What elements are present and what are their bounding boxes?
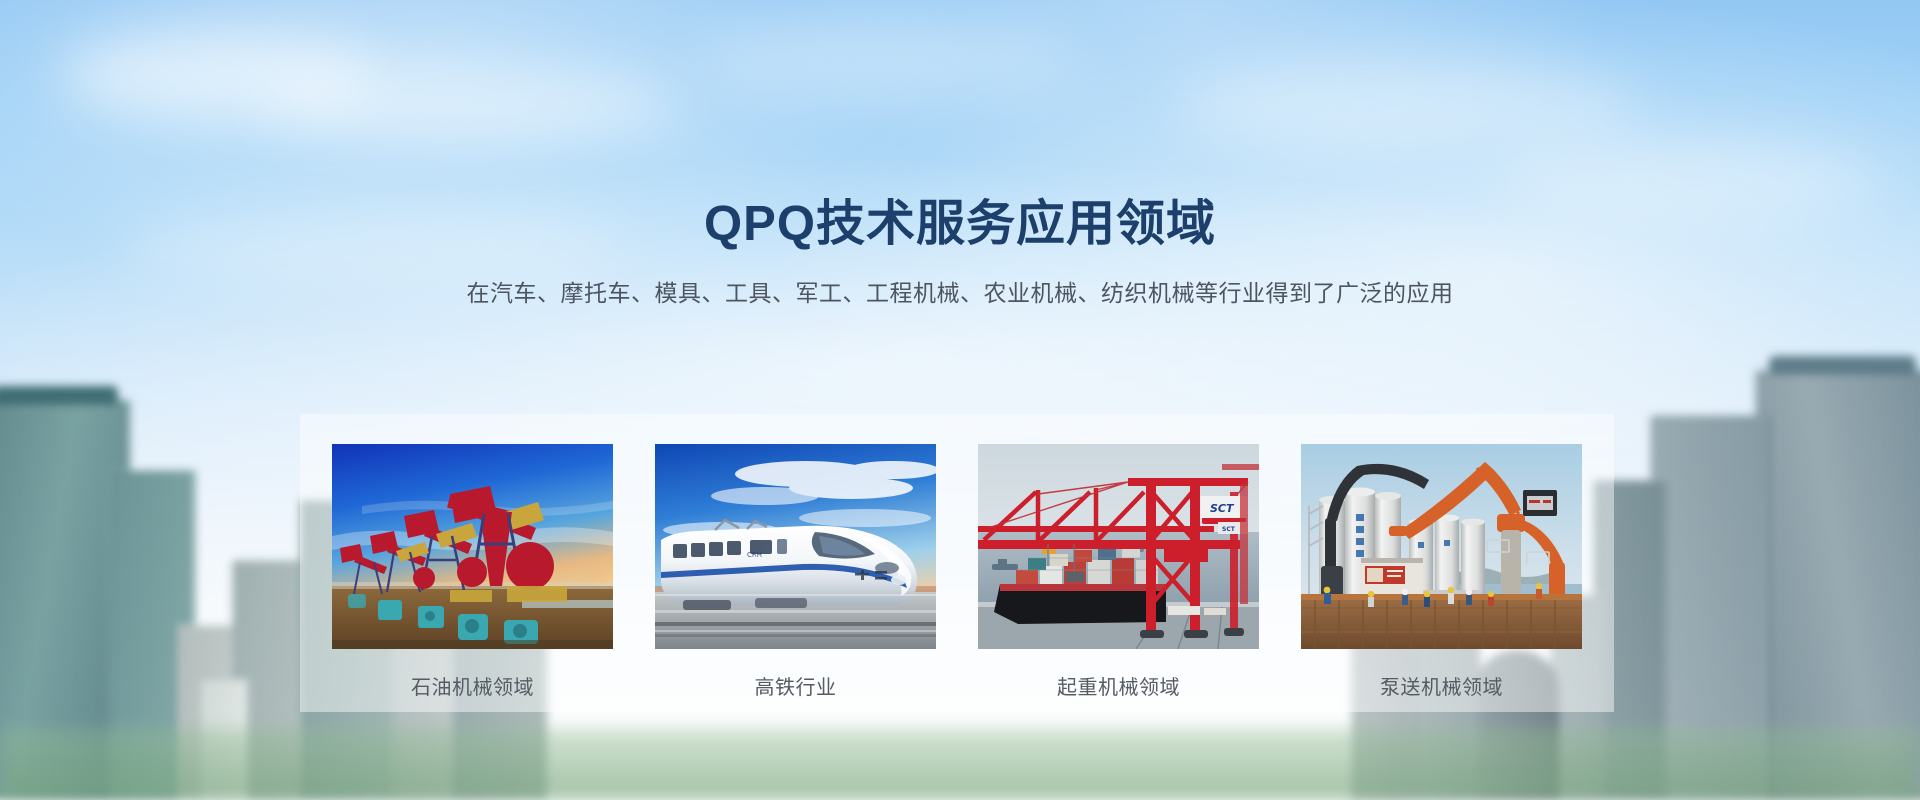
cloud-wisp (1180, 60, 1640, 150)
svg-text:CRH: CRH (747, 551, 762, 559)
page-title: QPQ技术服务应用领域 (0, 196, 1920, 254)
application-card-label: 起重机械领域 (978, 671, 1259, 700)
application-card[interactable]: CRH 高铁行业 (655, 444, 936, 700)
port-gantry-crane-photo[interactable]: SCT SCT (978, 444, 1259, 649)
cloud-wisp (260, 70, 680, 140)
application-fields-panel: 石油机械领域 (300, 414, 1614, 712)
page-subtitle: 在汽车、摩托车、模具、工具、军工、工程机械、农业机械、纺织机械等行业得到了广泛的… (0, 274, 1920, 308)
oil-pumpjack-photo[interactable] (332, 444, 613, 649)
application-card[interactable]: SCT SCT 起重机械领域 (978, 444, 1259, 700)
application-card-label: 石油机械领域 (332, 671, 613, 700)
application-card[interactable]: 石油机械领域 (332, 444, 613, 700)
svg-text:SCT: SCT (1210, 502, 1235, 515)
application-card-label: 泵送机械领域 (1301, 671, 1582, 700)
hero-heading-block: QPQ技术服务应用领域 在汽车、摩托车、模具、工具、军工、工程机械、农业机械、纺… (0, 196, 1920, 308)
high-speed-train-photo[interactable]: CRH (655, 444, 936, 649)
cloud-wisp (700, 20, 1080, 100)
application-card-label: 高铁行业 (655, 671, 936, 700)
foreground-greenery (0, 728, 1920, 800)
svg-text:SCT: SCT (1222, 526, 1236, 533)
concrete-pump-silo-photo[interactable] (1301, 444, 1582, 649)
application-card[interactable]: 泵送机械领域 (1301, 444, 1582, 700)
